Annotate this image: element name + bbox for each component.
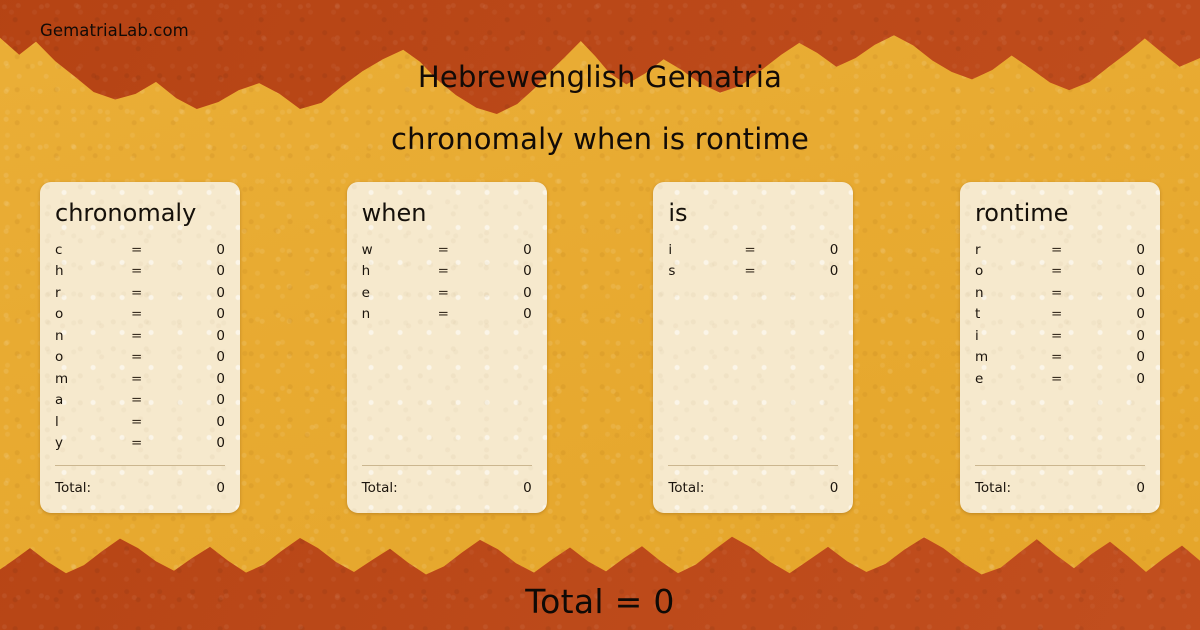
letter-value: 0 (788, 263, 838, 279)
card-total-row: Total:0 (668, 480, 838, 496)
letter-label: h (362, 263, 438, 279)
word-card: rontimer=0o=0n=0t=0i=0m=0e=0Total:0 (960, 182, 1160, 513)
equals-sign: = (438, 242, 482, 258)
letter-row: a=0 (55, 392, 225, 414)
page-title: Hebrewenglish Gematria (0, 60, 1200, 94)
letter-row: r=0 (975, 242, 1145, 264)
letter-label: i (975, 328, 1051, 344)
equals-sign: = (1051, 349, 1095, 365)
card-word-title: rontime (975, 199, 1145, 228)
letter-row: t=0 (975, 306, 1145, 328)
equals-sign: = (438, 263, 482, 279)
card-total-label: Total: (668, 480, 829, 496)
letter-value: 0 (482, 285, 532, 301)
equals-sign: = (131, 285, 175, 301)
word-card: whenw=0h=0e=0n=0Total:0 (347, 182, 547, 513)
letter-label: h (55, 263, 131, 279)
letter-value: 0 (482, 263, 532, 279)
equals-sign: = (131, 306, 175, 322)
letter-row: s=0 (668, 263, 838, 285)
equals-sign: = (131, 349, 175, 365)
grand-total: Total = 0 (0, 582, 1200, 621)
letter-value: 0 (175, 263, 225, 279)
letter-row: c=0 (55, 242, 225, 264)
letter-row: e=0 (975, 371, 1145, 393)
letter-row: w=0 (362, 242, 532, 264)
letter-label: e (362, 285, 438, 301)
letter-row: m=0 (975, 349, 1145, 371)
letter-label: o (55, 306, 131, 322)
card-total-label: Total: (362, 480, 523, 496)
letter-row: o=0 (975, 263, 1145, 285)
letter-label: r (55, 285, 131, 301)
letter-label: s (668, 263, 744, 279)
letter-rows: c=0h=0r=0o=0n=0o=0m=0a=0l=0y=0 (55, 242, 225, 465)
letter-value: 0 (175, 328, 225, 344)
card-word-title: is (668, 199, 838, 228)
equals-sign: = (438, 306, 482, 322)
letter-label: w (362, 242, 438, 258)
card-total-row: Total:0 (362, 480, 532, 496)
letter-label: n (975, 285, 1051, 301)
letter-label: t (975, 306, 1051, 322)
letter-label: c (55, 242, 131, 258)
letter-value: 0 (482, 306, 532, 322)
letter-row: n=0 (975, 285, 1145, 307)
word-card: isi=0s=0Total:0 (653, 182, 853, 513)
letter-value: 0 (482, 242, 532, 258)
card-total-row: Total:0 (975, 480, 1145, 496)
letter-row: m=0 (55, 371, 225, 393)
equals-sign: = (131, 328, 175, 344)
letter-value: 0 (175, 306, 225, 322)
equals-sign: = (131, 242, 175, 258)
letter-label: m (975, 349, 1051, 365)
letter-row: h=0 (55, 263, 225, 285)
letter-value: 0 (175, 285, 225, 301)
letter-label: o (975, 263, 1051, 279)
letter-label: i (668, 242, 744, 258)
gematria-result-card: GematriaLab.com Hebrewenglish Gematria c… (0, 0, 1200, 630)
letter-label: r (975, 242, 1051, 258)
card-word-title: chronomaly (55, 199, 225, 228)
equals-sign: = (131, 371, 175, 387)
card-total-value: 0 (1136, 480, 1145, 496)
letter-label: y (55, 435, 131, 451)
letter-rows: i=0s=0 (668, 242, 838, 465)
equals-sign: = (131, 435, 175, 451)
letter-row: e=0 (362, 285, 532, 307)
letter-label: n (55, 328, 131, 344)
equals-sign: = (131, 263, 175, 279)
equals-sign: = (131, 414, 175, 430)
letter-value: 0 (1095, 371, 1145, 387)
letter-row: o=0 (55, 306, 225, 328)
equals-sign: = (1051, 263, 1095, 279)
letter-value: 0 (175, 435, 225, 451)
phrase-subtitle: chronomaly when is rontime (0, 122, 1200, 156)
letter-value: 0 (1095, 263, 1145, 279)
equals-sign: = (744, 242, 788, 258)
letter-value: 0 (788, 242, 838, 258)
letter-value: 0 (175, 349, 225, 365)
card-total-label: Total: (55, 480, 216, 496)
equals-sign: = (1051, 306, 1095, 322)
letter-row: n=0 (362, 306, 532, 328)
letter-value: 0 (175, 242, 225, 258)
letter-row: r=0 (55, 285, 225, 307)
letter-label: n (362, 306, 438, 322)
letter-rows: r=0o=0n=0t=0i=0m=0e=0 (975, 242, 1145, 465)
letter-row: h=0 (362, 263, 532, 285)
equals-sign: = (744, 263, 788, 279)
card-word-title: when (362, 199, 532, 228)
letter-rows: w=0h=0e=0n=0 (362, 242, 532, 465)
letter-row: o=0 (55, 349, 225, 371)
letter-value: 0 (175, 392, 225, 408)
site-logo[interactable]: GematriaLab.com (40, 21, 189, 40)
equals-sign: = (1051, 242, 1095, 258)
letter-row: l=0 (55, 414, 225, 436)
letter-row: i=0 (975, 328, 1145, 350)
letter-value: 0 (175, 414, 225, 430)
equals-sign: = (1051, 328, 1095, 344)
letter-value: 0 (1095, 242, 1145, 258)
card-total-value: 0 (216, 480, 225, 496)
word-card-list: chronomalyc=0h=0r=0o=0n=0o=0m=0a=0l=0y=0… (40, 182, 1160, 513)
card-divider (55, 465, 225, 466)
letter-label: l (55, 414, 131, 430)
letter-label: o (55, 349, 131, 365)
card-total-value: 0 (830, 480, 839, 496)
equals-sign: = (1051, 371, 1095, 387)
letter-label: m (55, 371, 131, 387)
card-total-value: 0 (523, 480, 532, 496)
letter-row: n=0 (55, 328, 225, 350)
equals-sign: = (131, 392, 175, 408)
letter-value: 0 (1095, 349, 1145, 365)
letter-label: a (55, 392, 131, 408)
letter-value: 0 (1095, 285, 1145, 301)
letter-value: 0 (175, 371, 225, 387)
letter-value: 0 (1095, 306, 1145, 322)
equals-sign: = (438, 285, 482, 301)
card-divider (362, 465, 532, 466)
card-total-row: Total:0 (55, 480, 225, 496)
letter-row: y=0 (55, 435, 225, 457)
card-total-label: Total: (975, 480, 1136, 496)
word-card: chronomalyc=0h=0r=0o=0n=0o=0m=0a=0l=0y=0… (40, 182, 240, 513)
letter-value: 0 (1095, 328, 1145, 344)
letter-label: e (975, 371, 1051, 387)
card-divider (668, 465, 838, 466)
letter-row: i=0 (668, 242, 838, 264)
card-divider (975, 465, 1145, 466)
equals-sign: = (1051, 285, 1095, 301)
